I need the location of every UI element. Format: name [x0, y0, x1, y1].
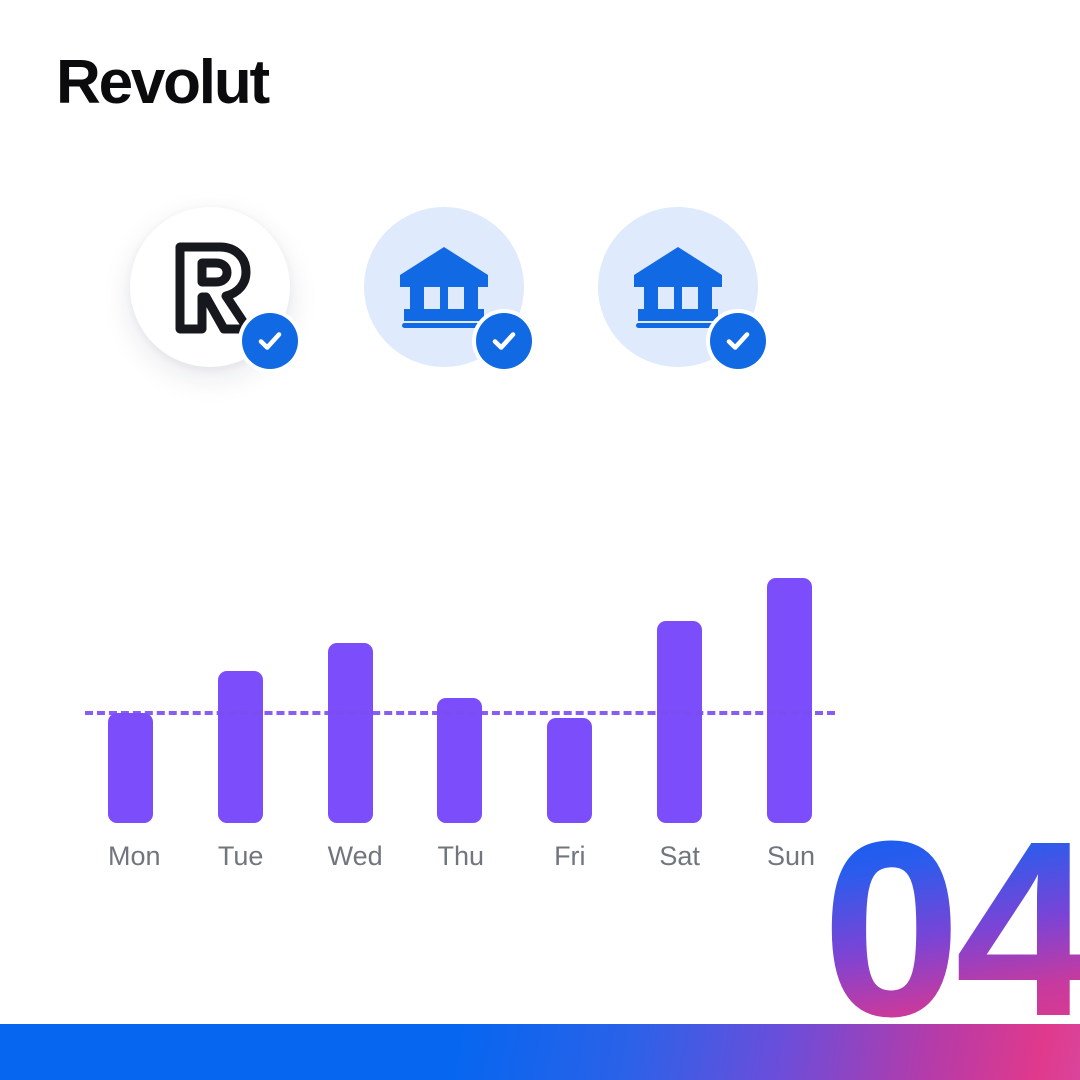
bank-icon [398, 245, 490, 329]
badge-linked-bank-one[interactable] [364, 207, 524, 367]
check-icon [722, 325, 754, 357]
verified-check-badge [472, 309, 536, 373]
promo-card: Revolut [0, 0, 1080, 1080]
chart-x-axis-labels: MonTueWedThuFriSatSun [80, 841, 840, 872]
chart-bar-column [328, 548, 373, 823]
chart-bar-column [767, 548, 812, 823]
chart-day-label: Wed [328, 841, 373, 872]
chart-bar-column [108, 548, 153, 823]
chart-bars [80, 548, 840, 823]
check-circle [710, 313, 766, 369]
check-circle [476, 313, 532, 369]
chart-bar-column [437, 548, 482, 823]
chart-bar-column [657, 548, 702, 823]
badge-linked-bank-two[interactable] [598, 207, 758, 367]
chart-bar [657, 621, 702, 824]
chart-day-label: Sun [767, 841, 812, 872]
chart-bar [108, 713, 153, 823]
revolut-r-icon [164, 239, 256, 335]
chart-bar [218, 671, 263, 824]
revolut-wordmark: Revolut [56, 52, 268, 114]
verified-check-badge [238, 309, 302, 373]
chart-day-label: Mon [108, 841, 153, 872]
check-circle [242, 313, 298, 369]
chart-plot-area [80, 548, 840, 823]
chart-bar-column [218, 548, 263, 823]
chart-bar [328, 643, 373, 823]
weekly-spending-chart: MonTueWedThuFriSatSun [80, 548, 840, 888]
bottom-gradient-bar [0, 1024, 1080, 1080]
check-icon [254, 325, 286, 357]
chart-bar-column [547, 548, 592, 823]
chart-day-label: Thu [437, 841, 482, 872]
check-icon [488, 325, 520, 357]
chart-day-label: Fri [547, 841, 592, 872]
step-number: 04 [822, 821, 1080, 1036]
verified-accounts-row [130, 207, 758, 367]
chart-average-line [85, 711, 835, 715]
chart-day-label: Tue [218, 841, 263, 872]
chart-bar [767, 578, 812, 823]
verified-check-badge [706, 309, 770, 373]
chart-bar [547, 718, 592, 823]
chart-bar [437, 698, 482, 823]
badge-revolut-account[interactable] [130, 207, 290, 367]
bank-icon [632, 245, 724, 329]
chart-day-label: Sat [657, 841, 702, 872]
